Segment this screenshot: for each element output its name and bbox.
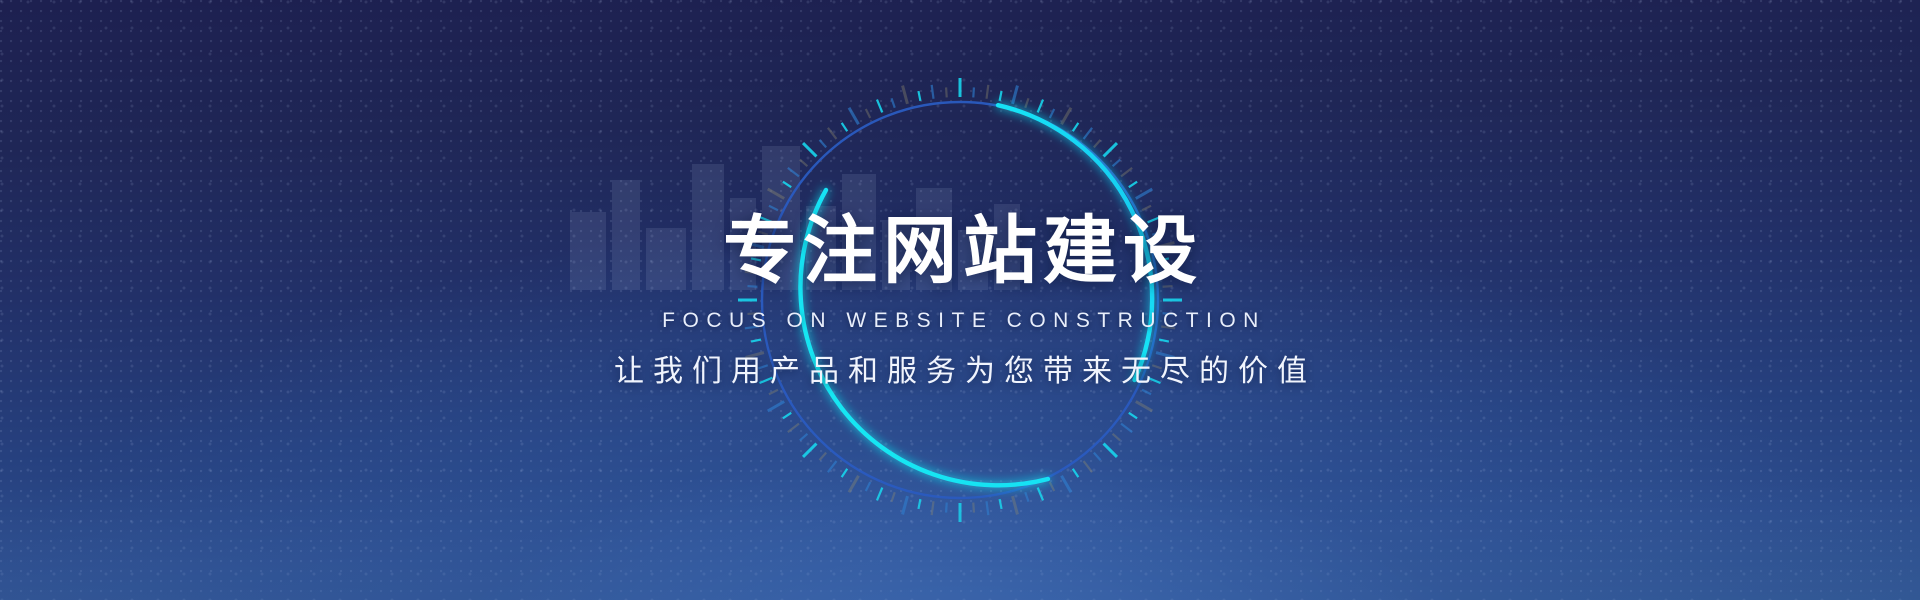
page-title: 专注网站建设 [717,214,1203,288]
hero-banner: 专注网站建设 FOCUS ON WEBSITE CONSTRUCTION 让我们… [0,0,1920,600]
banner-tagline: 让我们用产品和服务为您带来无尽的价值 [604,357,1316,387]
banner-content: 专注网站建设 FOCUS ON WEBSITE CONSTRUCTION 让我们… [0,0,1920,600]
banner-subtitle: FOCUS ON WEBSITE CONSTRUCTION [654,310,1266,331]
